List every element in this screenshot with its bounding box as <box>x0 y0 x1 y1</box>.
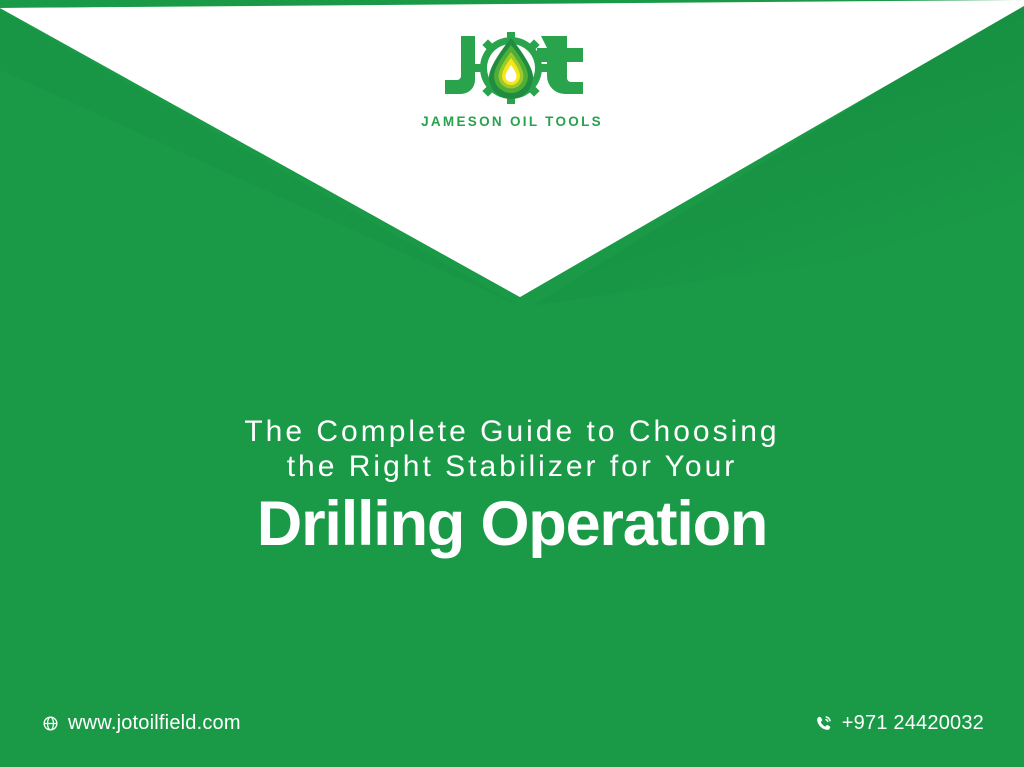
footer-phone[interactable]: +971 24420032 <box>814 712 984 735</box>
headline-subtitle-line-2: the Right Stabilizer for Your <box>0 449 1024 484</box>
headline-title: Drilling Operation <box>0 491 1024 557</box>
footer-phone-label: +971 24420032 <box>842 712 984 735</box>
globe-icon <box>40 713 60 733</box>
brand-logo: JAMESON OIL TOOLS <box>0 30 1024 129</box>
footer-website[interactable]: www.jotoilfield.com <box>40 712 241 735</box>
logo-wordmark: JAMESON OIL TOOLS <box>0 114 1024 129</box>
footer-website-label: www.jotoilfield.com <box>68 712 241 735</box>
headline-subtitle-line-1: The Complete Guide to Choosing <box>0 414 1024 449</box>
footer-bar: www.jotoilfield.com +971 24420032 <box>0 695 1024 767</box>
headline-block: The Complete Guide to Choosing the Right… <box>0 414 1024 557</box>
cover-page: JAMESON OIL TOOLS The Complete Guide to … <box>0 0 1024 767</box>
oil-drop-gear-logo-icon <box>437 30 587 110</box>
phone-call-icon <box>814 713 834 733</box>
